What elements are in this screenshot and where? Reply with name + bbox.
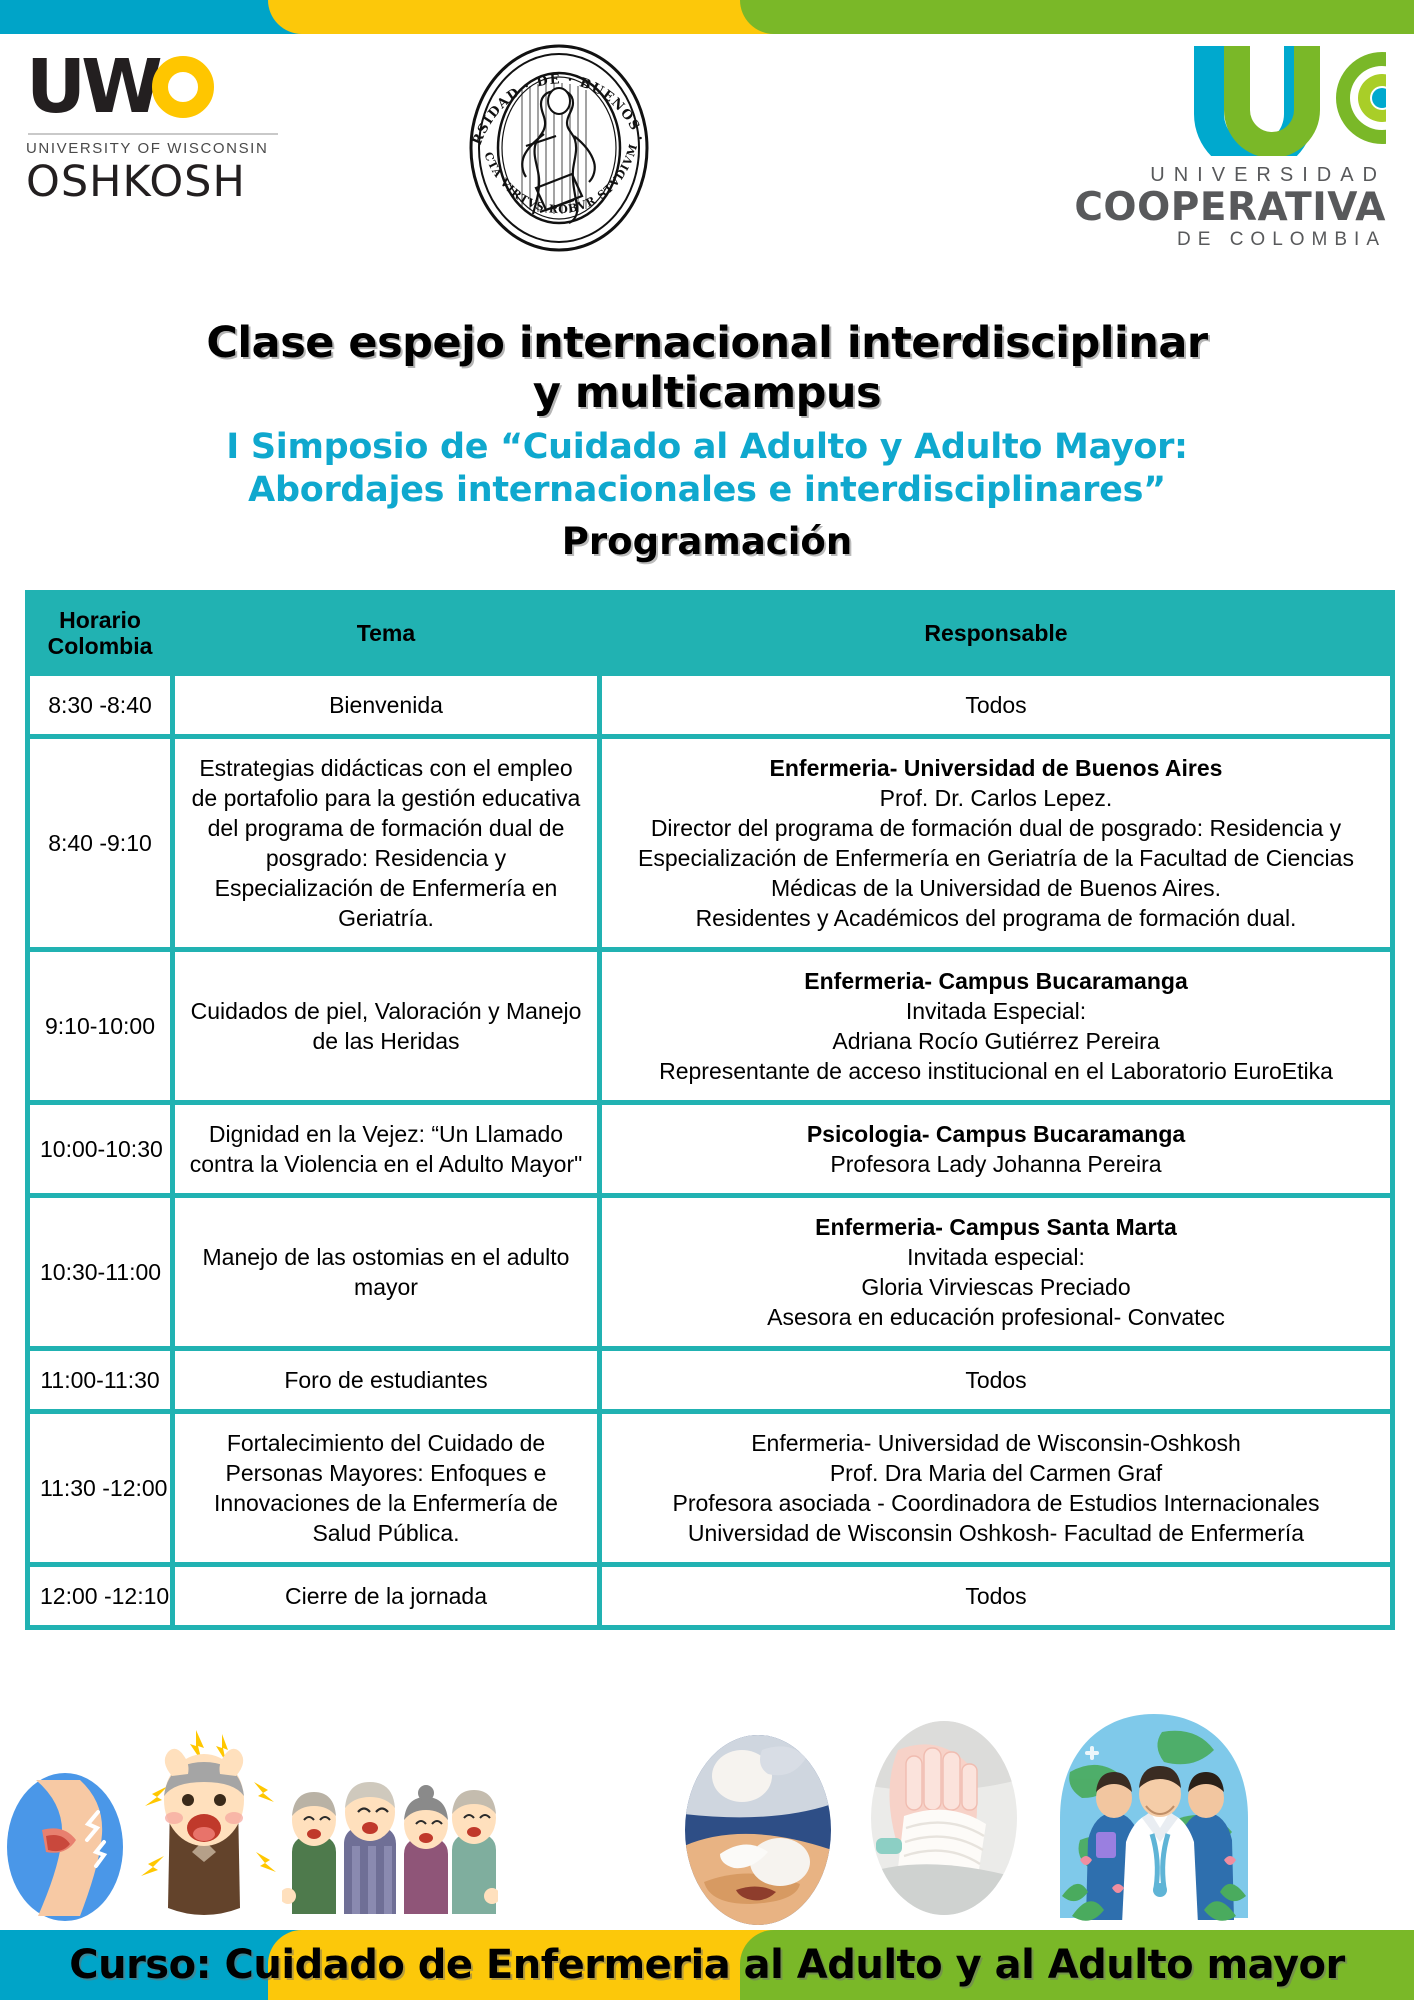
cell-tema: Manejo de las ostomias en el adulto mayo… <box>173 1196 600 1349</box>
uwo-subtitle: UNIVERSITY OF WISCONSIN <box>26 140 306 157</box>
responsable-body: Enfermeria- Universidad de Wisconsin-Osh… <box>673 1430 1320 1546</box>
main-title-line2: y multicampus <box>0 368 1414 418</box>
cell-horario: 11:30 -12:00 <box>28 1412 173 1565</box>
cell-horario: 8:30 -8:40 <box>28 674 173 737</box>
cell-responsable: Psicologia- Campus BucaramangaProfesora … <box>600 1103 1393 1196</box>
cell-horario: 9:10-10:00 <box>28 950 173 1103</box>
ucc-line-universidad: UNIVERSIDAD <box>1056 164 1386 187</box>
schedule-table: Horario Colombia Tema Responsable 8:30 -… <box>25 590 1395 1630</box>
cell-tema: Fortalecimiento del Cuidado de Personas … <box>173 1412 600 1565</box>
cell-responsable: Enfermeria- Universidad de Buenos AiresP… <box>600 737 1393 950</box>
column-header-tema: Tema <box>173 593 600 674</box>
poster-page: UW UNIVERSITY OF WISCONSIN OSHKOSH UNIVE… <box>0 0 1414 2000</box>
group-of-elderly-people-illustration <box>282 1776 498 1921</box>
health-team-globe-illustration <box>1054 1710 1254 1933</box>
top-color-band <box>0 0 1414 34</box>
table-row: 8:30 -8:40BienvenidaTodos <box>28 674 1393 737</box>
responsable-body: Todos <box>965 692 1026 718</box>
cell-tema: Estrategias didácticas con el empleo de … <box>173 737 600 950</box>
uba-seal-icon: UNIVERSIDAD · DE · BUENOS · AIRES ACTA V… <box>452 38 667 253</box>
cell-tema: Bienvenida <box>173 674 600 737</box>
cell-tema: Dignidad en la Vejez: “Un Llamado contra… <box>173 1103 600 1196</box>
cell-horario: 12:00 -12:10 <box>28 1565 173 1628</box>
responsable-body: Todos <box>965 1367 1026 1393</box>
bandaged-hand-photo <box>870 1720 1018 1921</box>
footer-course-title: Curso: Cuidado de Enfermeria al Adulto y… <box>0 1930 1414 2000</box>
ucc-mark-icon <box>1056 44 1386 156</box>
horario-label-line2: Colombia <box>48 633 153 659</box>
cell-responsable: Todos <box>600 1565 1393 1628</box>
table-row: 10:30-11:00Manejo de las ostomias en el … <box>28 1196 1393 1349</box>
responsable-body: Todos <box>965 1583 1026 1609</box>
top-band-green-segment <box>740 0 1414 34</box>
cell-horario: 10:00-10:30 <box>28 1103 173 1196</box>
logo-row: UW UNIVERSITY OF WISCONSIN OSHKOSH UNIVE… <box>0 38 1414 228</box>
schedule-table-wrapper: Horario Colombia Tema Responsable 8:30 -… <box>25 590 1390 1630</box>
cell-horario: 11:00-11:30 <box>28 1349 173 1412</box>
table-row: 9:10-10:00Cuidados de piel, Valoración y… <box>28 950 1393 1103</box>
ucc-uc-monogram-icon <box>1186 44 1386 156</box>
horario-label-line1: Horario <box>59 607 141 633</box>
responsable-body: Invitada especial: Gloria Virviescas Pre… <box>767 1244 1225 1330</box>
table-row: 11:00-11:30Foro de estudiantesTodos <box>28 1349 1393 1412</box>
responsable-body: Profesora Lady Johanna Pereira <box>830 1151 1161 1177</box>
title-block: Clase espejo internacional interdiscipli… <box>0 318 1414 563</box>
subtitle-line2: Abordajes internacionales e interdiscipl… <box>0 469 1414 512</box>
table-row: 11:30 -12:00Fortalecimiento del Cuidado … <box>28 1412 1393 1565</box>
cheering-elderly-man-illustration <box>128 1724 278 1929</box>
uwo-name: OSHKOSH <box>26 159 306 205</box>
cell-tema: Foro de estudiantes <box>173 1349 600 1412</box>
table-row: 12:00 -12:10Cierre de la jornadaTodos <box>28 1565 1393 1628</box>
responsable-heading: Enfermeria- Campus Santa Marta <box>612 1212 1380 1242</box>
uba-seal-logo: UNIVERSIDAD · DE · BUENOS · AIRES ACTA V… <box>452 38 667 253</box>
uwo-wordmark: UW <box>26 48 306 126</box>
ucc-logo: UNIVERSIDAD COOPERATIVA DE COLOMBIA <box>1056 44 1386 251</box>
uw-oshkosh-logo: UW UNIVERSITY OF WISCONSIN OSHKOSH <box>26 48 306 205</box>
cell-responsable: Enfermeria- Universidad de Wisconsin-Osh… <box>600 1412 1393 1565</box>
table-row: 8:40 -9:10Estrategias didácticas con el … <box>28 737 1393 950</box>
cell-horario: 10:30-11:00 <box>28 1196 173 1349</box>
cell-horario: 8:40 -9:10 <box>28 737 173 950</box>
programacion-heading: Programación <box>0 521 1414 563</box>
responsable-heading: Enfermeria- Campus Bucaramanga <box>612 966 1380 996</box>
responsable-heading: Enfermeria- Universidad de Buenos Aires <box>612 753 1380 783</box>
illustration-strip <box>0 1700 1414 1930</box>
wound-care-photo <box>684 1734 832 1931</box>
cell-responsable: Todos <box>600 674 1393 737</box>
responsable-body: Prof. Dr. Carlos Lepez. Director del pro… <box>638 785 1354 931</box>
table-header-row: Horario Colombia Tema Responsable <box>28 593 1393 674</box>
cell-responsable: Enfermeria- Campus BucaramangaInvitada E… <box>600 950 1393 1103</box>
column-header-responsable: Responsable <box>600 593 1393 674</box>
table-row: 10:00-10:30Dignidad en la Vejez: “Un Lla… <box>28 1103 1393 1196</box>
ucc-line-de-colombia: DE COLOMBIA <box>1056 229 1386 251</box>
cell-tema: Cuidados de piel, Valoración y Manejo de… <box>173 950 600 1103</box>
uwo-letters: UW <box>26 50 158 124</box>
uwo-o-ring-icon <box>152 56 214 118</box>
responsable-body: Invitada Especial: Adriana Rocío Gutiérr… <box>659 998 1333 1084</box>
main-title-line1: Clase espejo internacional interdiscipli… <box>0 318 1414 368</box>
column-header-horario: Horario Colombia <box>28 593 173 674</box>
cell-responsable: Enfermeria- Campus Santa MartaInvitada e… <box>600 1196 1393 1349</box>
subtitle-line1: I Simposio de “Cuidado al Adulto y Adult… <box>0 426 1414 469</box>
knee-pain-illustration <box>6 1772 124 1927</box>
cell-tema: Cierre de la jornada <box>173 1565 600 1628</box>
ucc-line-cooperativa: COOPERATIVA <box>1056 187 1386 229</box>
bottom-color-band: Curso: Cuidado de Enfermeria al Adulto y… <box>0 1930 1414 2000</box>
uwo-divider-rule <box>28 133 278 135</box>
cell-responsable: Todos <box>600 1349 1393 1412</box>
responsable-heading: Psicologia- Campus Bucaramanga <box>612 1119 1380 1149</box>
